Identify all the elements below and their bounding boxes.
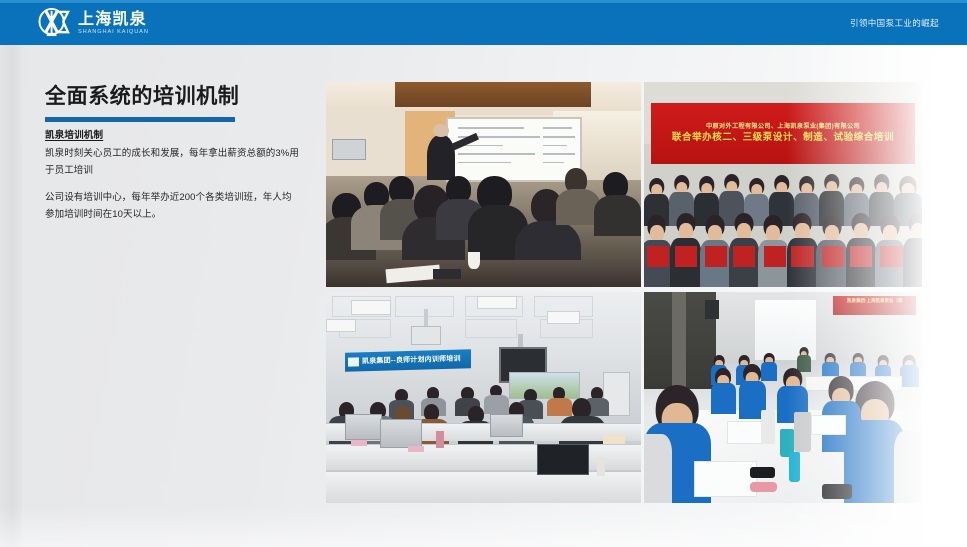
speaker <box>705 300 719 319</box>
blue-bottle <box>789 452 800 482</box>
monitor <box>345 414 382 439</box>
photo-lecture-hall[interactable] <box>326 82 641 287</box>
red-wall-banner: 凯泉集团·上海凯泉泵业（集 <box>833 296 916 315</box>
title-underline-rule <box>45 117 235 122</box>
left-edge-band <box>0 0 22 547</box>
photo-computer-classroom[interactable]: 凯泉集团--良师计划内训师培训 <box>326 292 641 503</box>
body-paragraph-2: 公司设有培训中心，每年举办近200个各类培训班，年人均参加培训时间在10天以上。 <box>45 189 301 223</box>
banner-line-1: 中原对外工程有限公司、上海凯泉泵业(集团)有限公司 <box>706 122 860 131</box>
page-title: 全面系统的培训机制 <box>45 84 305 110</box>
brand-logo-text: 上海凯泉 SHANGHAI KAIQUAN <box>78 11 147 36</box>
front-desk <box>326 260 641 287</box>
ceiling-lamp <box>547 311 581 324</box>
kaiquan-mark-icon <box>348 357 359 366</box>
wall-column <box>672 292 686 389</box>
pink-case <box>750 482 778 493</box>
section-heading: 凯泉培训机制 <box>45 128 301 143</box>
slide-canvas: 上海凯泉 SHANGHAI KAIQUAN 引领中国泵工业的崛起 全面系统的培训… <box>0 0 967 547</box>
monitor <box>490 414 524 437</box>
tablet <box>433 269 461 279</box>
instructor <box>427 135 455 180</box>
name-card <box>603 435 625 443</box>
worksheet <box>694 461 757 497</box>
bottom-fade-overlay <box>0 507 967 547</box>
mobile-phone <box>750 467 775 478</box>
ceiling-lamp <box>326 319 356 332</box>
monitor <box>380 419 423 448</box>
air-vent <box>332 139 366 159</box>
thermos <box>761 410 775 444</box>
photo-workshop-training[interactable]: 凯泉集团·上海凯泉泵业（集 <box>644 292 922 503</box>
window <box>509 372 580 399</box>
name-card <box>408 446 424 452</box>
ceiling-lamp <box>351 300 391 315</box>
page-title-block: 全面系统的培训机制 <box>45 84 305 122</box>
mobile-phone <box>822 484 853 499</box>
brand-logo[interactable]: 上海凯泉 SHANGHAI KAIQUAN <box>38 8 147 38</box>
projector <box>411 326 441 345</box>
banner-line-2: 联合举办核二、三级泵设计、制造、试验综合培训 <box>672 131 894 144</box>
front-row <box>644 209 922 287</box>
kaiquan-logo-mark-icon <box>38 8 71 38</box>
brand-name-cn: 上海凯泉 <box>78 11 147 28</box>
header-slogan: 引领中国泵工业的崛起 <box>850 0 939 45</box>
notebook <box>811 415 846 436</box>
ceiling-lamp <box>477 296 517 309</box>
paper-cup <box>468 252 481 268</box>
laptop <box>537 444 589 476</box>
blue-banner-text: 凯泉集团--良师计划内训师培训 <box>362 354 461 367</box>
body-text-block: 凯泉培训机制 凯泉时刻关心员工的成长和发展，每年拿出薪资总额的3%用于员工培训 … <box>45 128 301 223</box>
red-wall-banner-text: 凯泉集团·上海凯泉泵业（集 <box>833 296 916 306</box>
blue-banner: 凯泉集团--良师计划内训师培训 <box>345 349 471 372</box>
wood-beam <box>395 82 590 107</box>
thermos <box>794 412 811 452</box>
name-card <box>351 440 367 446</box>
red-banner: 中原对外工程有限公司、上海凯泉泵业(集团)有限公司 联合举办核二、三级泵设计、制… <box>651 103 915 165</box>
body-paragraph-1: 凯泉时刻关心员工的成长和发展，每年拿出薪资总额的3%用于员工培训 <box>45 145 301 179</box>
photo-grid: 中原对外工程有限公司、上海凯泉泵业(集团)有限公司 联合举办核二、三级泵设计、制… <box>326 82 922 503</box>
whiteboard <box>446 117 582 183</box>
photo-group-banner[interactable]: 中原对外工程有限公司、上海凯泉泵业(集团)有限公司 联合举办核二、三级泵设计、制… <box>644 82 922 287</box>
brand-name-en: SHANGHAI KAIQUAN <box>78 28 149 36</box>
